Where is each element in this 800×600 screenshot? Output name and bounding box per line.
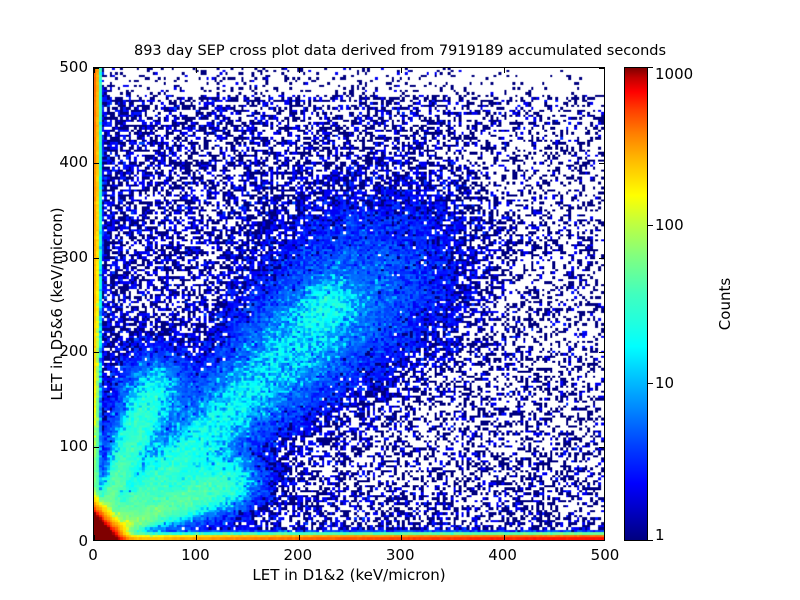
colorbar-label: Counts [716,67,734,541]
x-tick-label: 200 [283,546,312,564]
colorbar[interactable] [624,67,648,541]
x-tick-label: 500 [591,546,620,564]
x-tick-mark [299,535,300,540]
colorbar-tick-mark [648,225,653,226]
y-tick-label: 400 [59,153,88,171]
x-tick-label: 100 [181,546,210,564]
y-tick-mark [94,258,99,259]
x-tick-mark [504,535,505,540]
x-tick-mark [401,535,402,540]
colorbar-tick-label: 100 [655,216,684,234]
x-tick-label: 400 [488,546,517,564]
y-tick-mark-right [599,352,604,353]
x-tick-mark-top [401,68,402,73]
y-tick-mark-right [599,447,604,448]
y-tick-label: 500 [59,58,88,76]
y-tick-mark-right [599,163,604,164]
x-tick-label: 300 [386,546,415,564]
y-tick-label: 300 [59,248,88,266]
plot-axes-area[interactable] [93,67,605,541]
x-tick-mark-top [504,68,505,73]
y-tick-mark [94,68,99,69]
y-tick-label: 0 [78,532,88,550]
y-axis-label: LET in D5&6 (keV/micron) [48,67,66,541]
x-tick-mark-top [299,68,300,73]
x-tick-mark [196,535,197,540]
colorbar-tick-label: 1 [655,526,665,544]
colorbar-tick-label: 1000 [655,65,693,83]
y-tick-mark-right [599,68,604,69]
x-tick-label: 0 [88,546,98,564]
scatter-heatmap-data [94,68,604,540]
colorbar-tick-mark [648,383,653,384]
y-tick-label: 100 [59,437,88,455]
x-tick-mark-top [196,68,197,73]
y-tick-mark [94,163,99,164]
y-tick-mark-right [599,258,604,259]
y-tick-mark [94,352,99,353]
figure-canvas: 893 day SEP cross plot data derived from… [0,0,800,600]
colorbar-tick-mark [648,540,653,541]
plot-title-line-1: 893 day SEP cross plot data derived from… [0,43,800,61]
y-tick-mark [94,447,99,448]
colorbar-tick-mark [648,67,653,68]
x-axis-label: LET in D1&2 (keV/micron) [93,566,605,584]
y-tick-label: 200 [59,342,88,360]
colorbar-tick-label: 10 [655,374,674,392]
x-tick-mark [94,535,95,540]
